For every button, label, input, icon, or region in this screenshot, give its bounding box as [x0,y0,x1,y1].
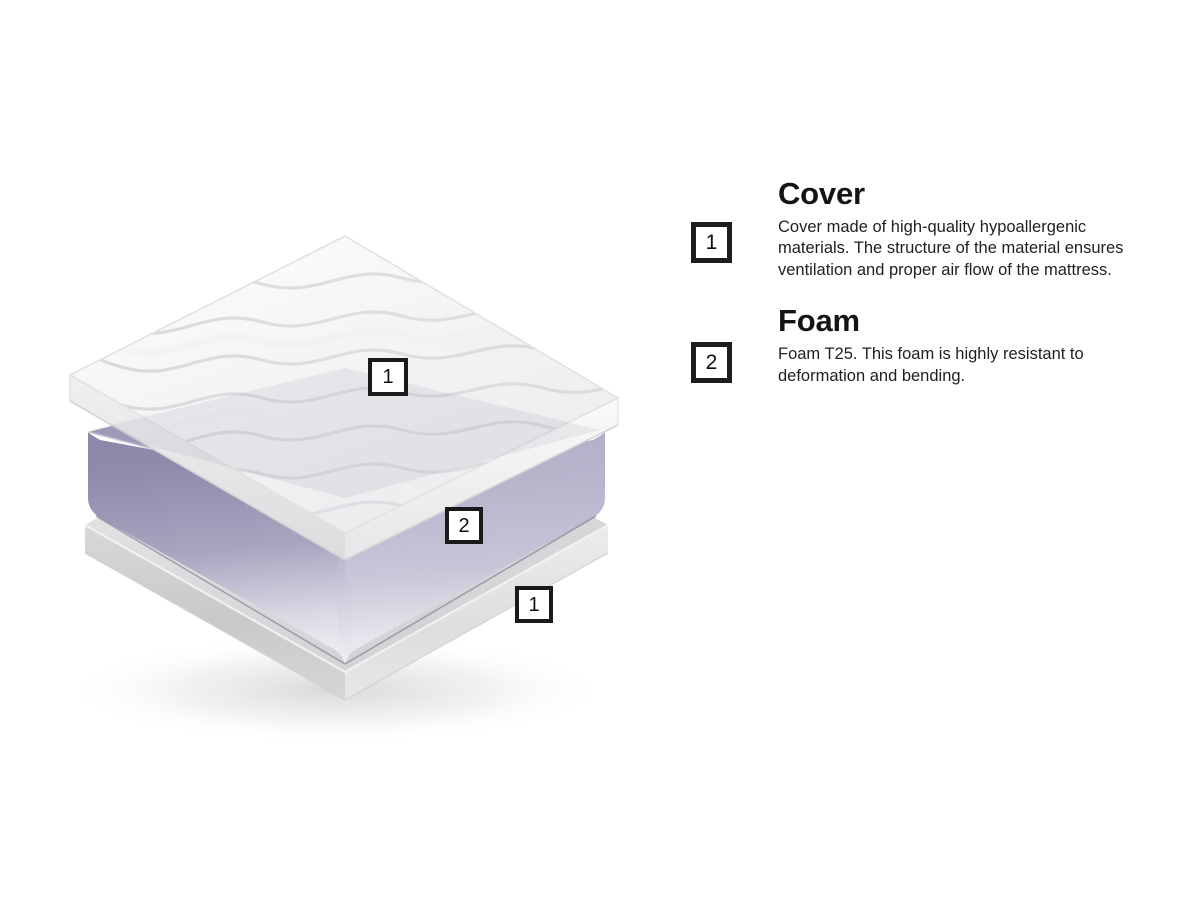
callout-badge-base-art: 1 [515,586,553,623]
mattress-illustration: 1 2 1 [0,0,680,899]
legend-description-foam: Foam T25. This foam is highly resistant … [778,344,1148,388]
legend-entry-foam: 2 Foam Foam T25. This foam is highly res… [688,305,1158,387]
mattress-svg [0,0,680,899]
legend-text-cover: Cover Cover made of high-quality hypoall… [778,178,1158,282]
callout-badge-foam-art: 2 [445,507,483,544]
callout-badge-cover-art: 1 [368,358,408,396]
legend-description-cover: Cover made of high-quality hypoallergeni… [778,217,1148,283]
legend-title-cover: Cover [778,178,1158,211]
legend-badge-2: 2 [691,342,732,383]
legend-badge-1: 1 [691,222,732,263]
legend-text-foam: Foam Foam T25. This foam is highly resis… [778,305,1158,387]
legend-entry-cover: 1 Cover Cover made of high-quality hypoa… [688,178,1158,282]
legend-title-foam: Foam [778,305,1158,338]
legend-panel: 1 Cover Cover made of high-quality hypoa… [688,178,1158,388]
